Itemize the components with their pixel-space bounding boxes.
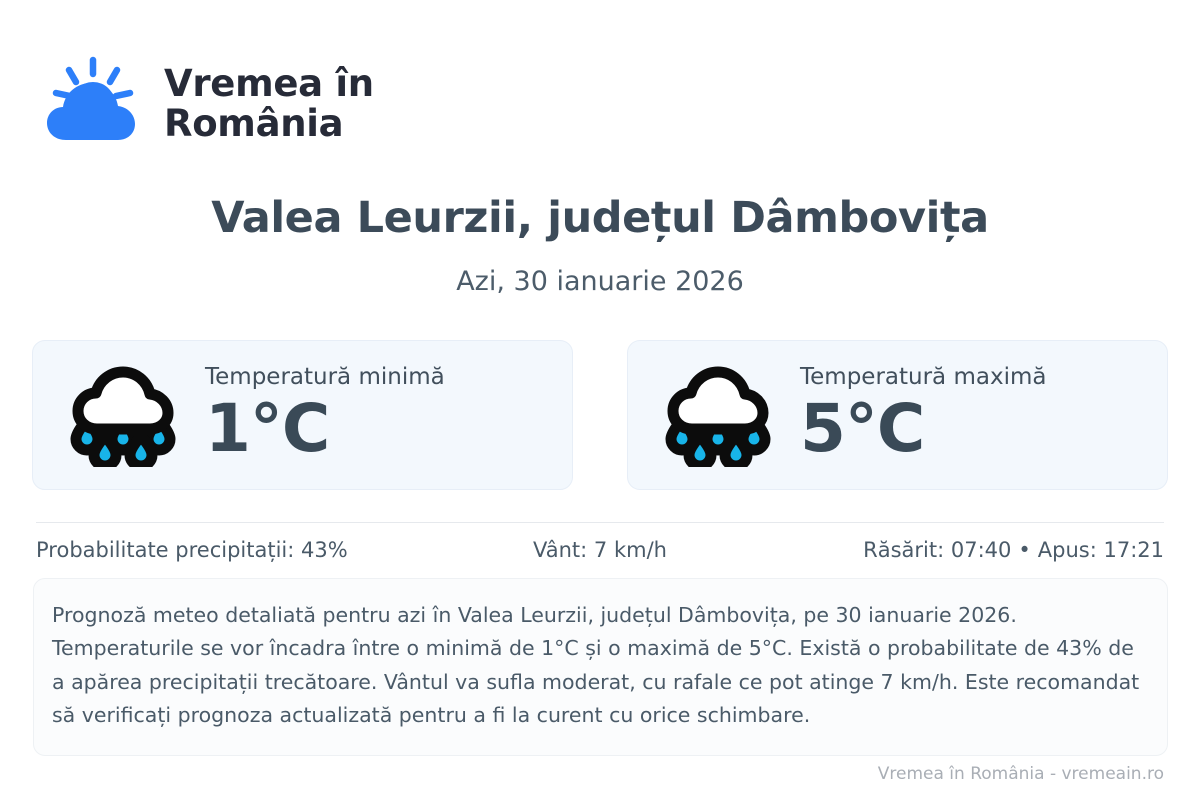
- sun-behind-cloud-icon: [38, 52, 142, 156]
- rain-cloud-icon: [662, 363, 774, 467]
- forecast-description-text: Prognoză meteo detaliată pentru azi în V…: [52, 599, 1145, 733]
- weather-page: Vremea în România Valea Leurzii, județul…: [0, 0, 1200, 800]
- page-subtitle: Azi, 30 ianuarie 2026: [0, 266, 1200, 297]
- weather-stats-row: Probabilitate precipitații: 43% Vânt: 7 …: [36, 538, 1164, 562]
- footer-credit: Vremea în România - vremeain.ro: [878, 764, 1164, 784]
- min-temperature-card: Temperatură minimă 1°C: [32, 340, 573, 490]
- site-logo[interactable]: Vremea în România: [38, 52, 374, 156]
- precipitation-stat: Probabilitate precipitații: 43%: [36, 538, 420, 562]
- sunrise-time: Răsărit: 07:40: [863, 538, 1011, 562]
- max-temperature-card: Temperatură maximă 5°C: [627, 340, 1168, 490]
- min-temperature-label: Temperatură minimă: [205, 363, 445, 392]
- page-title: Valea Leurzii, județul Dâmbovița: [0, 193, 1200, 243]
- wind-stat: Vânt: 7 km/h: [420, 538, 781, 562]
- min-temperature-value: 1°C: [205, 394, 445, 463]
- temperature-cards: Temperatură minimă 1°C: [32, 340, 1168, 490]
- max-temperature-value: 5°C: [800, 394, 1046, 463]
- rain-cloud-icon: [67, 363, 179, 467]
- max-temperature-label: Temperatură maximă: [800, 363, 1046, 392]
- sun-times-stat: Răsărit: 07:40•Apus: 17:21: [780, 538, 1164, 562]
- sunset-time: Apus: 17:21: [1038, 538, 1164, 562]
- sun-separator: •: [1011, 538, 1037, 562]
- brand-name: Vremea în România: [164, 64, 374, 144]
- forecast-description-panel: Prognoză meteo detaliată pentru azi în V…: [33, 578, 1168, 756]
- stats-divider: [36, 522, 1164, 523]
